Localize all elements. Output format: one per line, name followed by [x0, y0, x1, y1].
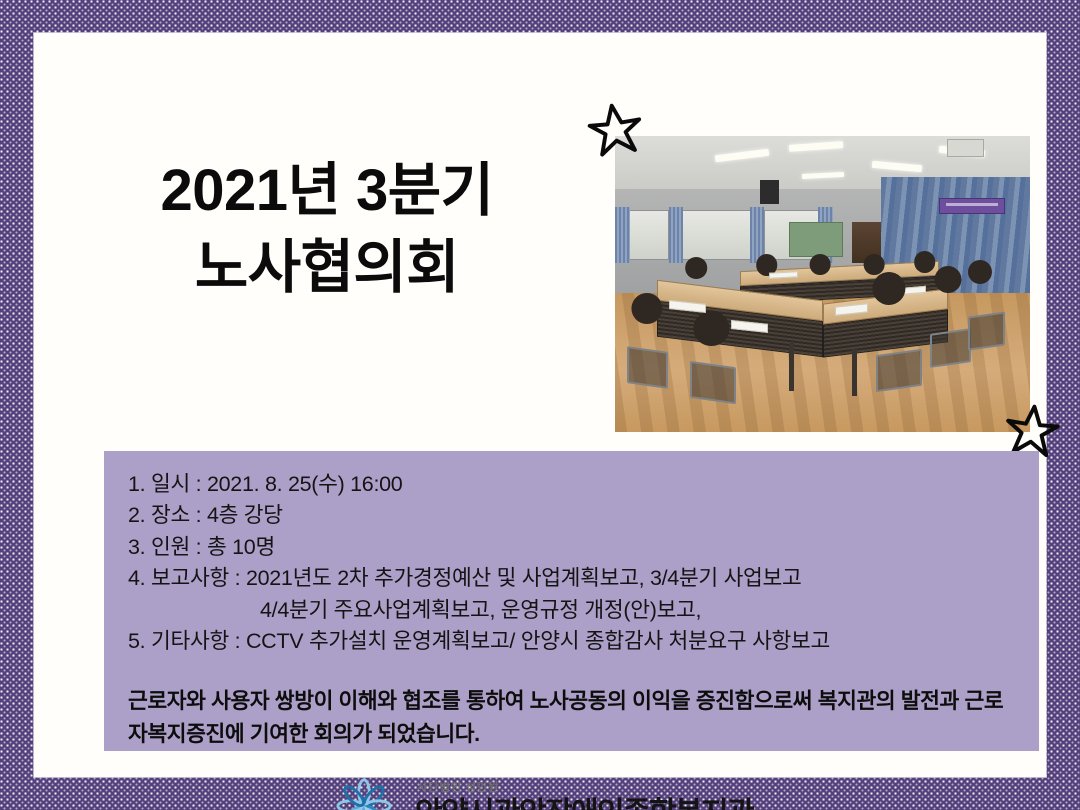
photo-projector: [947, 139, 984, 157]
photo-chair: [930, 328, 971, 367]
logo-subtitle: 사단법인 성민원: [417, 783, 753, 795]
photo-curtain: [669, 207, 684, 263]
meeting-details-panel: 1. 일시 : 2021. 8. 25(수) 16:00 2. 장소 : 4층 …: [104, 451, 1039, 751]
list-item: 2. 장소 : 4층 강당: [128, 500, 1015, 531]
list-item: 4. 보고사항 : 2021년도 2차 추가경정예산 및 사업계획보고, 3/4…: [128, 563, 1015, 594]
photo-chair: [690, 361, 736, 404]
slide-canvas: 2021년 3분기 노사협의회: [0, 0, 1080, 810]
title-line-1: 2021년 3분기: [92, 153, 562, 230]
page-title: 2021년 3분기 노사협의회: [92, 153, 562, 306]
list-item: 5. 기타사항 : CCTV 추가설치 운영계획보고/ 안양시 종합감사 처분요…: [128, 626, 1015, 657]
photo-table-leg: [789, 343, 794, 390]
photo-window: [681, 210, 752, 260]
slide-content-area: 2021년 3분기 노사협의회: [34, 33, 1046, 777]
photo-meeting-banner: [939, 198, 1005, 214]
list-item: 1. 일시 : 2021. 8. 25(수) 16:00: [128, 469, 1015, 500]
photo-speaker: [760, 180, 779, 204]
organization-logo: 사단법인 성민원 안양시관악장애인종합복지관: [34, 775, 1046, 810]
list-item-continuation: 4/4분기 주요사업계획보고, 운영규정 개정(안)보고,: [128, 595, 1015, 626]
photo-chair: [876, 349, 922, 392]
meeting-photo: [615, 136, 1030, 432]
meeting-summary-text: 근로자와 사용자 쌍방이 이해와 협조를 통하여 노사공동의 이익을 증진함으로…: [128, 685, 1015, 750]
photo-chair: [627, 346, 668, 388]
meeting-details-list: 1. 일시 : 2021. 8. 25(수) 16:00 2. 장소 : 4층 …: [128, 469, 1015, 657]
title-line-2: 노사협의회: [92, 230, 562, 307]
list-item: 3. 인원 : 총 10명: [128, 532, 1015, 563]
meeting-photo-container: [615, 136, 1030, 432]
logo-text-block: 사단법인 성민원 안양시관악장애인종합복지관: [415, 783, 753, 810]
logo-title: 안양시관악장애인종합복지관: [415, 799, 753, 810]
photo-curtain: [615, 207, 630, 263]
photo-green-board: [789, 222, 843, 258]
flower-rosette-logo-icon: [327, 777, 401, 810]
photo-chair: [968, 311, 1005, 350]
photo-table-leg: [852, 349, 857, 396]
